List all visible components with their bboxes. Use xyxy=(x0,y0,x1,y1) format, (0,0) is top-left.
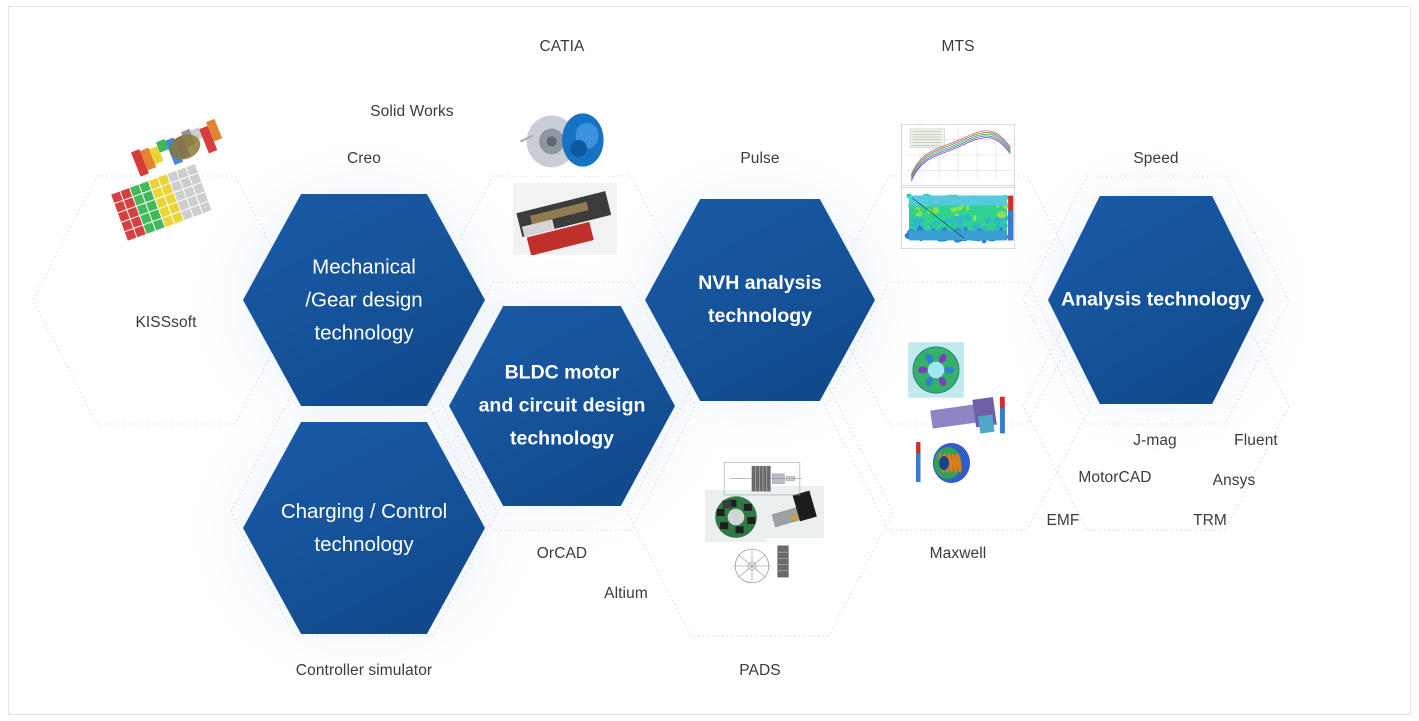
tool-label-motorcad: MotorCAD xyxy=(1078,469,1151,487)
tool-label-pulse: Pulse xyxy=(740,150,779,168)
tool-label-kisssoft: KISSsoft xyxy=(135,314,196,332)
tool-label-solid-works: Solid Works xyxy=(370,103,454,121)
tool-label-trm: TRM xyxy=(1193,512,1227,530)
hexagon-grid xyxy=(0,0,1419,721)
tool-label-pads: PADS xyxy=(739,662,780,680)
tool-label-orcad: OrCAD xyxy=(537,545,587,563)
tool-label-ansys: Ansys xyxy=(1213,472,1256,490)
tool-label-catia: CATIA xyxy=(540,38,585,56)
tool-label-maxwell: Maxwell xyxy=(930,545,987,563)
tool-label-creo: Creo xyxy=(347,150,381,168)
tool-label-fluent: Fluent xyxy=(1234,432,1278,450)
tool-label-mts: MTS xyxy=(941,38,974,56)
tool-label-controller-simulator: Controller simulator xyxy=(296,662,432,680)
tool-label-j-mag: J-mag xyxy=(1133,432,1177,450)
tool-label-emf: EMF xyxy=(1046,512,1079,530)
tool-label-altium: Altium xyxy=(604,585,648,603)
diagram-canvas: CATIAMTSSolid WorksCreoPulseSpeedKISSsof… xyxy=(0,0,1419,721)
tool-label-speed: Speed xyxy=(1133,150,1178,168)
